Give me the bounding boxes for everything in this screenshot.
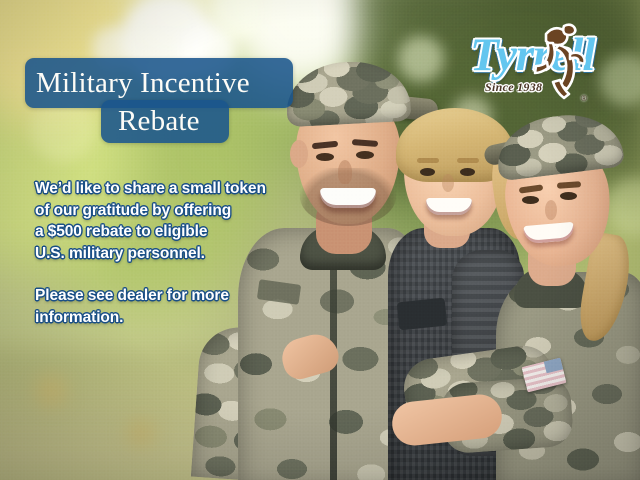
headline-line1: Military Incentive: [36, 63, 250, 104]
body-line-2: of our gratitude by offering: [35, 200, 295, 222]
boy-eyebrow-right: [457, 158, 479, 163]
male-soldier-eye-right: [356, 151, 374, 159]
body-line-4: U.S. military personnel.: [35, 243, 295, 265]
boy-smile: [426, 198, 472, 215]
male-soldier-ear: [290, 140, 308, 168]
military-incentive-rebate-banner: Military Incentive Rebate We’d like to s…: [0, 0, 640, 480]
boy-sweater-pocket: [397, 298, 448, 331]
body-line-6: information.: [35, 307, 295, 329]
boy-nose: [442, 174, 454, 192]
female-soldier-eye-left: [522, 196, 539, 204]
male-soldier-patrol-cap: [284, 59, 411, 127]
female-soldier-patrol-cap: [493, 109, 625, 182]
male-soldier-eye-left: [316, 153, 334, 161]
boy-eye-right: [460, 168, 475, 176]
boy-eye-left: [420, 168, 435, 176]
tyrrell-logo[interactable]: Tyrrell Since 1938 ®: [470, 22, 630, 104]
body-line-5: Please see dealer for more: [35, 285, 295, 307]
female-soldier-eye-right: [560, 192, 577, 200]
body-line-1: We’d like to share a small token: [35, 178, 295, 200]
female-soldier-nose: [545, 200, 557, 220]
body-line-3: a $500 rebate to eligible: [35, 221, 295, 243]
male-soldier-jacket-zipper: [330, 262, 337, 480]
boy-eyebrow-left: [417, 158, 439, 163]
body-copy-block: We’d like to share a small token of our …: [35, 178, 295, 328]
headline-line2: Rebate: [118, 103, 200, 140]
male-soldier-smile: [320, 188, 376, 208]
male-soldier-nose: [338, 160, 352, 184]
tyrrell-tagline: Since 1938: [485, 80, 542, 95]
paragraph-spacer: [35, 264, 295, 285]
